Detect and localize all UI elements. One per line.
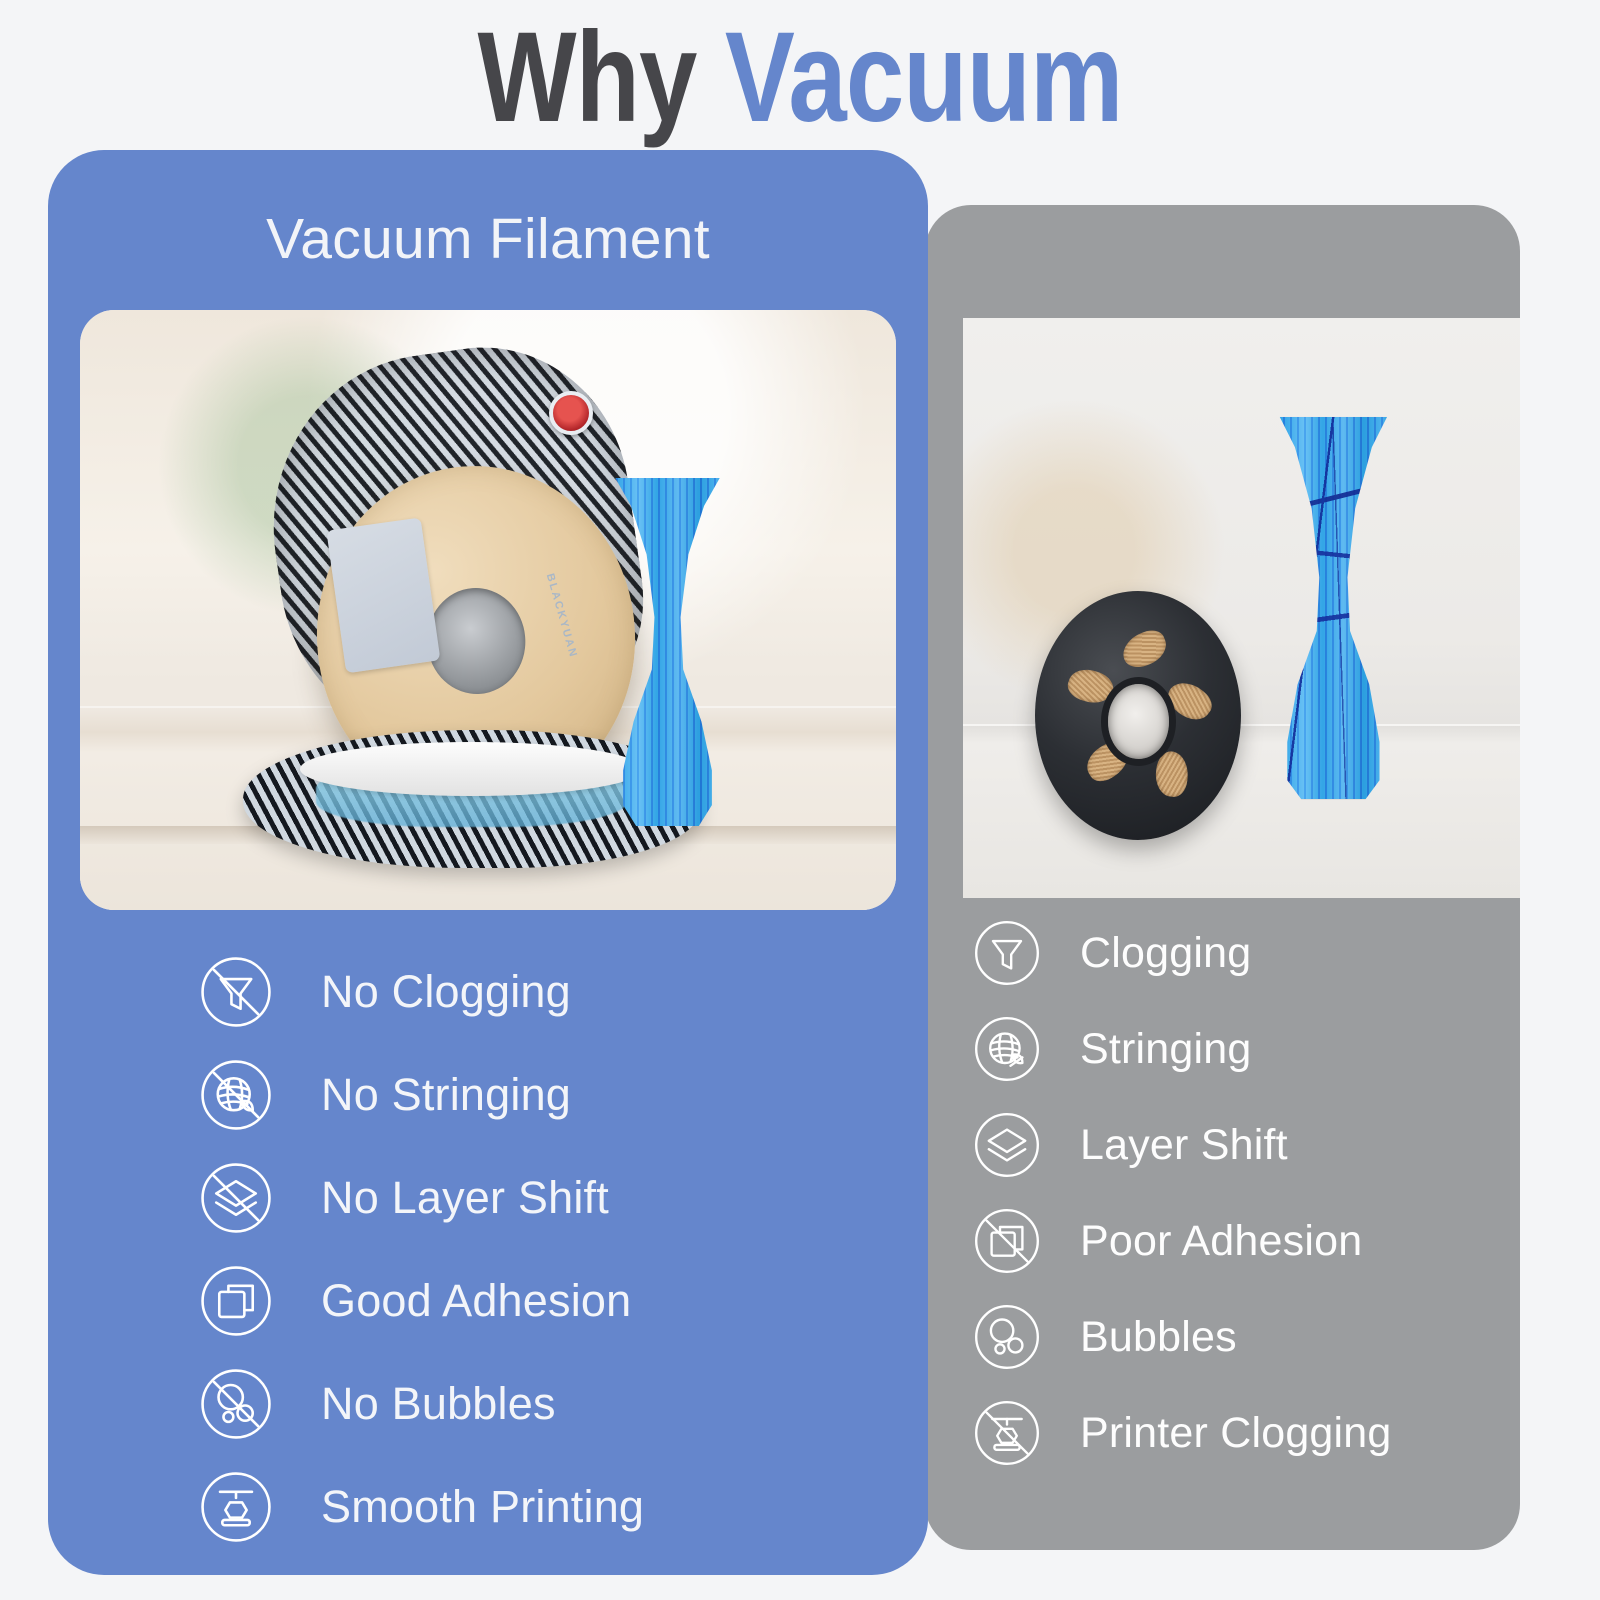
layers-icon bbox=[972, 1110, 1042, 1180]
vacuum-panel: Vacuum Filament BLACKYUAN bbox=[48, 150, 928, 1575]
feature-item: Clogging bbox=[972, 905, 1520, 1001]
feature-item: No Clogging bbox=[198, 940, 898, 1043]
feature-label: Clogging bbox=[1080, 932, 1251, 975]
yarn-ball-icon bbox=[972, 1014, 1042, 1084]
yarn-ball-icon bbox=[198, 1057, 274, 1133]
feature-item: Bubbles bbox=[972, 1289, 1520, 1385]
feature-label: Smooth Printing bbox=[321, 1484, 644, 1529]
title-part-why: Why bbox=[477, 6, 724, 149]
feature-item: No Stringing bbox=[198, 1043, 898, 1146]
feature-label: No Bubbles bbox=[321, 1381, 556, 1426]
feature-item: No Bubbles bbox=[198, 1352, 898, 1455]
feature-item: Printer Clogging bbox=[972, 1385, 1520, 1481]
vacuum-valve-image bbox=[549, 391, 593, 435]
feature-label: Poor Adhesion bbox=[1080, 1220, 1362, 1263]
feature-label: No Layer Shift bbox=[321, 1175, 609, 1220]
feature-label: Bubbles bbox=[1080, 1316, 1237, 1359]
stacked-squares-icon bbox=[972, 1206, 1042, 1276]
feature-label: Good Adhesion bbox=[321, 1278, 631, 1323]
bubbles-icon bbox=[198, 1366, 274, 1442]
black-spool-image bbox=[1035, 591, 1241, 840]
funnel-icon bbox=[972, 918, 1042, 988]
page-title: Why Vacuum bbox=[144, 14, 1456, 142]
bubbles-icon bbox=[972, 1302, 1042, 1372]
vacuum-photo: BLACKYUAN bbox=[80, 310, 896, 910]
feature-item: No Layer Shift bbox=[198, 1146, 898, 1249]
no-vacuum-photo bbox=[963, 318, 1520, 898]
feature-item: Poor Adhesion bbox=[972, 1193, 1520, 1289]
feature-item: Good Adhesion bbox=[198, 1249, 898, 1352]
feature-label: Printer Clogging bbox=[1080, 1412, 1392, 1455]
feature-item: Smooth Printing bbox=[198, 1455, 898, 1558]
feature-item: Stringing bbox=[972, 1001, 1520, 1097]
vacuum-feature-list: No Clogging No bbox=[198, 940, 898, 1558]
feature-label: No Clogging bbox=[321, 969, 571, 1014]
infographic-root: Why Vacuum No Vacuum Filament bbox=[0, 0, 1600, 1600]
stacked-squares-icon bbox=[198, 1263, 274, 1339]
vacuum-panel-heading: Vacuum Filament bbox=[48, 206, 928, 272]
feature-label: No Stringing bbox=[321, 1072, 571, 1117]
feature-label: Layer Shift bbox=[1080, 1124, 1288, 1167]
printer-icon bbox=[198, 1469, 274, 1545]
funnel-icon bbox=[198, 954, 274, 1030]
feature-label: Stringing bbox=[1080, 1028, 1252, 1071]
title-part-vacuum: Vacuum bbox=[725, 6, 1123, 149]
feature-item: Layer Shift bbox=[972, 1097, 1520, 1193]
printer-icon bbox=[972, 1398, 1042, 1468]
no-vacuum-feature-list: Clogging Strin bbox=[972, 905, 1520, 1481]
no-vacuum-panel: No Vacuum Filament bbox=[925, 205, 1520, 1550]
layers-icon bbox=[198, 1160, 274, 1236]
